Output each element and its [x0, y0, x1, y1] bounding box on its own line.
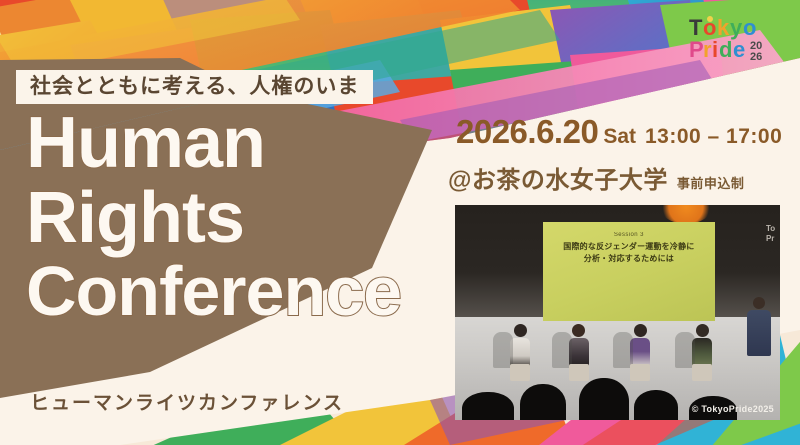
slide-title-line-2: 分析・対応するためには — [543, 253, 715, 265]
tagline-banner: 社会とともに考える、人権のいま — [16, 70, 373, 104]
photo-panelist — [627, 324, 653, 368]
conference-photo: Session 3 国際的な反ジェンダー運動を冷静に 分析・対応するためには T… — [455, 205, 780, 420]
title-line-2: Rights — [26, 183, 446, 254]
photo-standing-speaker — [744, 297, 774, 356]
photo-audience-head — [579, 378, 629, 420]
photo-panelist — [507, 324, 533, 368]
event-venue-line: @お茶の水女子大学事前申込制 — [448, 160, 744, 195]
photo-chair — [569, 364, 589, 381]
photo-audience-head — [634, 390, 678, 420]
pride-conference-poster: 社会とともに考える、人権のいま Human Rights Conference … — [0, 0, 800, 445]
photo-audience-head — [520, 384, 566, 420]
photo-chair — [630, 364, 650, 381]
subtitle-japanese: ヒューマンライツカンファレンス — [30, 388, 344, 415]
photo-panelist-head — [696, 324, 709, 337]
logo-letter-p: P — [689, 37, 704, 62]
photo-panelist-head — [572, 324, 585, 337]
photo-panelist-head — [634, 324, 647, 337]
photo-side-logo-line-2: Pr — [766, 234, 775, 243]
photo-side-logo: To Pr — [766, 224, 775, 242]
event-venue: @お茶の水女子大学 — [448, 167, 668, 194]
photo-panelist — [689, 324, 715, 368]
tokyo-pride-logo[interactable]: T o k y o P r i d e 20 26 — [688, 14, 784, 66]
event-day-of-week: Sat — [603, 125, 636, 148]
photo-presentation-screen: Session 3 国際的な反ジェンダー運動を冷静に 分析・対応するためには — [543, 222, 715, 321]
page-title: Human Rights Conference — [26, 108, 446, 330]
logo-letter-d: d — [719, 37, 732, 62]
photo-panelist-head — [514, 324, 527, 337]
photo-panelist-shadow — [552, 332, 572, 368]
slide-title-line-1: 国際的な反ジェンダー運動を冷静に — [543, 241, 715, 253]
logo-letter-e: e — [733, 37, 745, 62]
event-date-line: 2026.6.20Sat13:00 – 17:00 — [456, 113, 782, 151]
logo-year-bottom: 26 — [750, 51, 762, 63]
photo-panelist-shadow — [675, 332, 695, 368]
logo-dot-accent — [707, 16, 713, 22]
photo-panelist-shadow — [613, 332, 633, 368]
title-line-1: Human — [26, 108, 446, 179]
logo-letter-i: i — [712, 37, 718, 62]
photo-chair — [510, 364, 530, 381]
logo-letter-r: r — [703, 37, 712, 62]
photo-speaker-head — [753, 297, 765, 309]
event-time: 13:00 – 17:00 — [645, 125, 782, 148]
slide-session-label: Session 3 — [543, 232, 715, 238]
photo-panelist-shadow — [493, 332, 513, 368]
photo-side-logo-line-1: To — [766, 224, 775, 233]
photo-audience-head — [462, 392, 514, 420]
title-line-3: Conference — [26, 257, 446, 326]
registration-note: 事前申込制 — [677, 176, 745, 191]
photo-credit: © TokyoPride2025 — [692, 404, 774, 414]
event-date: 2026.6.20 — [456, 113, 598, 150]
photo-chair — [692, 364, 712, 381]
photo-speaker-body — [747, 310, 771, 356]
photo-panelist — [566, 324, 592, 368]
